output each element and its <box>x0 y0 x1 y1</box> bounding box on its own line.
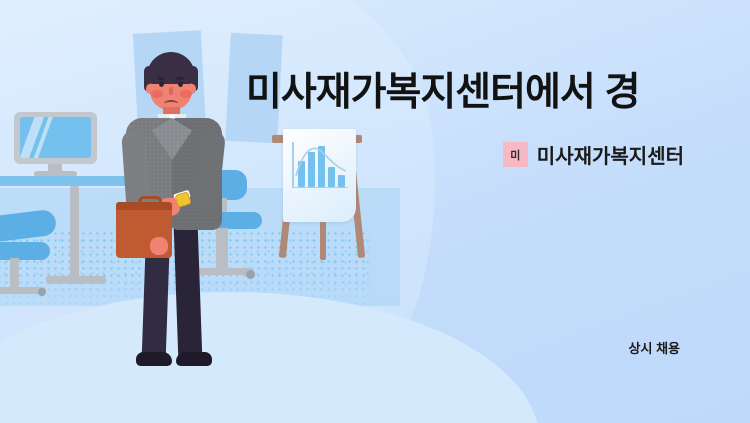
shoe-right <box>176 352 212 366</box>
desk-foot <box>46 276 106 284</box>
cheek-right <box>180 90 192 98</box>
status-badge: 상시 채용 <box>629 338 680 357</box>
hair <box>147 52 195 84</box>
monitor-screen <box>20 117 91 158</box>
leg-right <box>174 222 203 363</box>
brand-badge-icon: 미 <box>503 142 528 167</box>
eye-left <box>159 81 164 87</box>
briefcase-top-edge <box>116 202 172 210</box>
cheek-left <box>151 90 163 98</box>
office-chair-post <box>10 258 19 290</box>
brand-row: 미 미사재가복지센터 <box>503 140 684 169</box>
bar-chart-illustration <box>292 142 348 188</box>
shoe-left <box>136 352 172 366</box>
page-title: 미사재가복지센터에서 경 <box>246 72 640 115</box>
eye-right <box>178 81 183 87</box>
businessman-figure <box>118 52 248 372</box>
floor-shape <box>0 292 540 423</box>
hand-left <box>150 237 168 255</box>
chair-wheel <box>38 288 46 296</box>
office-chair-seat <box>0 242 50 260</box>
desk-leg <box>70 186 79 280</box>
chart-x-axis <box>292 187 348 189</box>
desk-surface <box>0 176 134 186</box>
brand-name: 미사재가복지센터 <box>537 140 684 169</box>
chart-trend-curve <box>294 142 348 182</box>
nose <box>169 87 173 95</box>
mouth <box>164 100 178 107</box>
recruitment-banner: 미사재가복지센터에서 경 미 미사재가복지센터 상시 채용 <box>0 0 750 423</box>
